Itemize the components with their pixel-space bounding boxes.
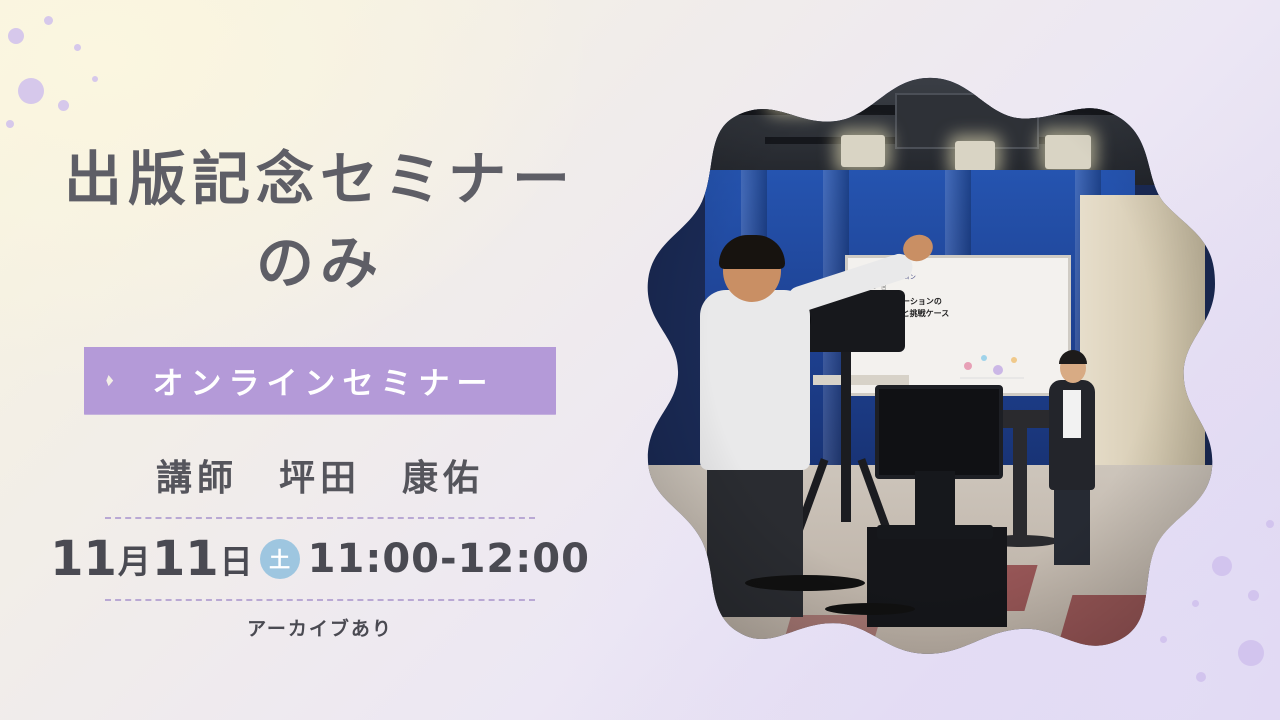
- studio-photo: 看護イノベーション 第 2 回 看護イノベーションの 成功ケースと挑戦ケース: [645, 75, 1215, 655]
- decorative-dot: [1196, 672, 1206, 682]
- divider-bottom: [105, 599, 535, 601]
- time-range: 11:00-12:00: [308, 536, 590, 582]
- photo-blob-mask: 看護イノベーション 第 2 回 看護イノベーションの 成功ケースと挑戦ケース: [645, 75, 1215, 655]
- lecturer-name: 講師 坪田 康佑: [156, 449, 484, 501]
- poster-text-column: 出版記念セミナー のみ オンラインセミナー 講師 坪田 康佑 11 月 11 日…: [0, 0, 640, 720]
- ribbon-label: オンラインセミナー: [85, 347, 555, 415]
- day-number: 11: [152, 531, 219, 587]
- decorative-dot: [1238, 640, 1264, 666]
- online-seminar-ribbon: オンラインセミナー: [85, 347, 555, 415]
- month-unit: 月: [118, 535, 151, 583]
- photo-vignette: [645, 75, 1215, 655]
- day-unit: 日: [220, 535, 253, 583]
- divider-top: [105, 517, 535, 519]
- event-datetime: 11 月 11 日 土 11:00-12:00: [50, 531, 590, 587]
- studio-scene: 看護イノベーション 第 2 回 看護イノベーションの 成功ケースと挑戦ケース: [645, 75, 1215, 655]
- decorative-dot: [1248, 590, 1259, 601]
- month-number: 11: [50, 531, 117, 587]
- decorative-dot: [1266, 520, 1274, 528]
- seminar-poster: 出版記念セミナー のみ オンラインセミナー 講師 坪田 康佑 11 月 11 日…: [0, 0, 1280, 720]
- studio-lamp: [773, 83, 815, 109]
- title-line-1: 出版記念セミナー: [64, 140, 576, 218]
- decorative-dot: [1212, 556, 1232, 576]
- title-line-2: のみ: [64, 224, 576, 302]
- weekday-badge: 土: [260, 539, 300, 579]
- archive-note: アーカイブあり: [247, 614, 393, 641]
- poster-title: 出版記念セミナー のみ: [64, 140, 576, 303]
